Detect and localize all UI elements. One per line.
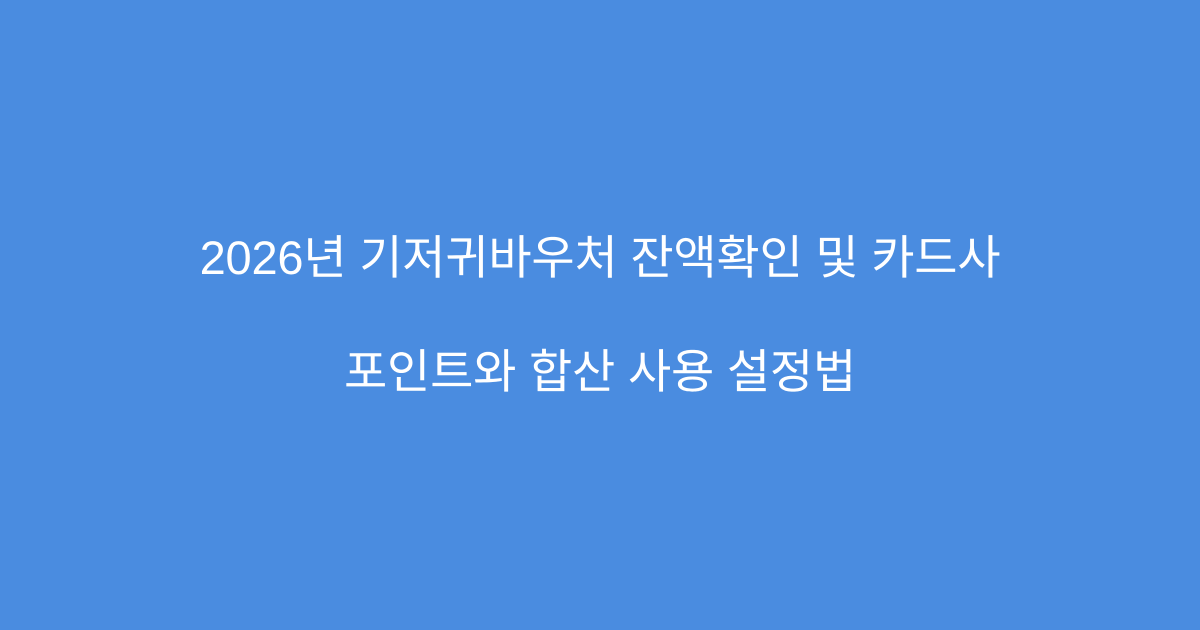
page-title-line-2: 포인트와 합산 사용 설정법 <box>120 343 1080 400</box>
page-title: 2026년 기저귀바우처 잔액확인 및 카드사 포인트와 합산 사용 설정법 <box>120 172 1080 457</box>
title-block: 2026년 기저귀바우처 잔액확인 및 카드사 포인트와 합산 사용 설정법 <box>120 172 1080 457</box>
page-title-line-1: 2026년 기저귀바우처 잔액확인 및 카드사 <box>120 229 1080 286</box>
banner-card: 2026년 기저귀바우처 잔액확인 및 카드사 포인트와 합산 사용 설정법 <box>0 0 1200 630</box>
